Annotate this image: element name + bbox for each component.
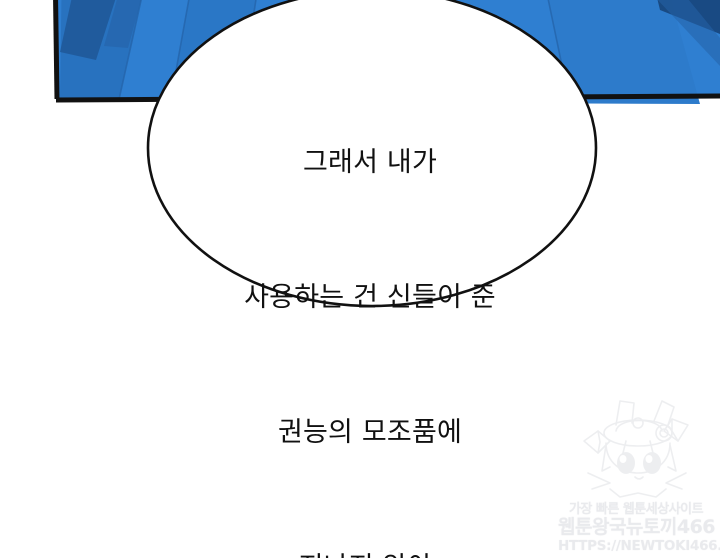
speech-bubble-shape <box>0 0 720 558</box>
speech-bubble-ellipse <box>148 0 596 306</box>
comic-panel: 그래서 내가 사용하는 건 신들이 준 권능의 모조품에 지나지 않아. <box>0 0 720 558</box>
